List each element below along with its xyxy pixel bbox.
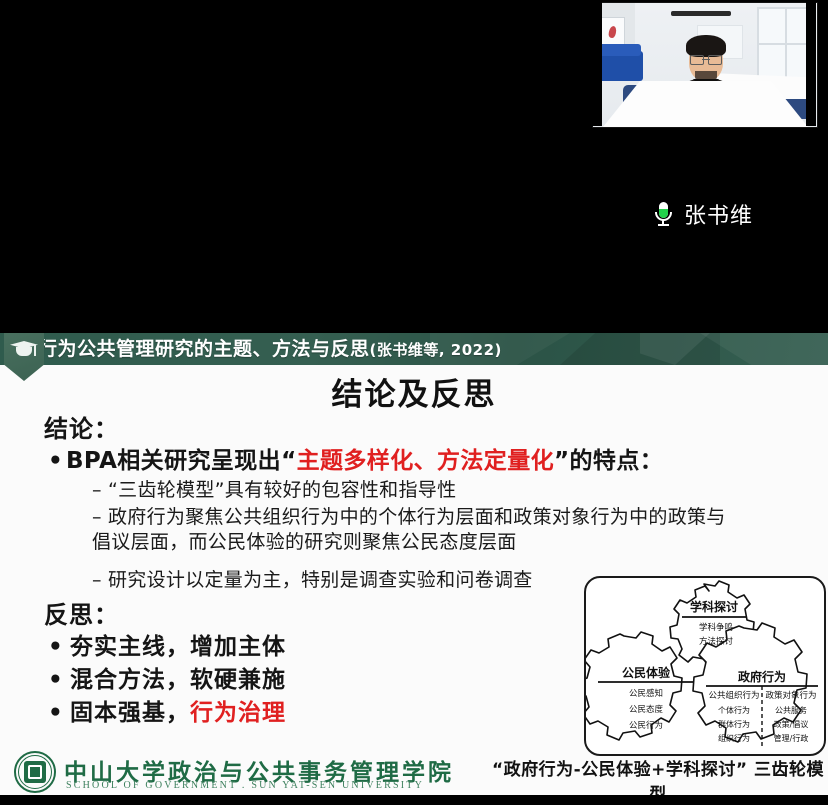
- bullet-dot: •: [48, 667, 70, 693]
- gear-line-left-3: 公民行为: [629, 720, 663, 731]
- gear-line-top-1: 学科争鸣: [699, 622, 733, 633]
- ceiling-light: [671, 11, 731, 16]
- bullet-dot: •: [48, 700, 70, 726]
- presentation-slide: 行为公共管理研究的主题、方法与反思(张书维等, 2022) 结论及反思 结论： …: [0, 333, 828, 795]
- blue-sofa: [595, 51, 643, 81]
- conclusion-sub-bullet: –“三齿轮模型”具有较好的包容性和指导性: [92, 475, 456, 502]
- gear-line-left-2: 公民态度: [629, 704, 664, 715]
- gear-title-left: 公民体验: [622, 665, 671, 680]
- video-conference-region: 张书维: [0, 0, 828, 333]
- slide-header-bar: 行为公共管理研究的主题、方法与反思(张书维等, 2022): [0, 333, 828, 365]
- sysu-seal-logo-icon: [14, 751, 56, 793]
- active-speaker-label: 张书维: [592, 197, 816, 231]
- bullet-dot: •: [48, 634, 70, 660]
- reflection-highlight: 行为治理: [190, 700, 286, 726]
- three-gear-model-diagram: 学科探讨 学科争鸣 方法探讨 公民体验 公民感知 公民态度 公民行为 政府行为 …: [584, 576, 826, 756]
- conclusion-main-bullet: •BPA相关研究呈现出“主题多样化、方法定量化”的特点：: [48, 441, 788, 475]
- window-icon: [757, 7, 813, 85]
- slide-header-title-text: 行为公共管理研究的主题、方法与反思: [38, 338, 370, 360]
- sub-bullet-text: 政府行为聚焦公共组织行为中的个体行为层面和政策对象行为中的政策与倡议层面，而公民…: [92, 506, 726, 553]
- gear-col1-header: 公共组织行为: [708, 690, 759, 701]
- gear-title-right: 政府行为: [738, 669, 786, 684]
- bullet-dot: •: [48, 448, 66, 474]
- bullet-prefix: BPA相关研究呈现出“: [66, 448, 297, 474]
- gear-title-top: 学科探讨: [690, 599, 738, 614]
- reflection-text: 固本强基，: [70, 700, 190, 726]
- sub-bullet-text: “三齿轮模型”具有较好的包容性和指导性: [108, 479, 456, 501]
- section-label-conclusion: 结论：: [44, 409, 119, 444]
- gear-col1-line-1: 个体行为: [718, 705, 750, 715]
- slide-header-citation: (张书维等, 2022): [370, 341, 502, 359]
- dash-marker: –: [92, 569, 108, 591]
- conclusion-sub-bullet: –政府行为聚焦公共组织行为中的个体行为层面和政策对象行为中的政策与倡议层面，而公…: [92, 505, 732, 554]
- institution-name-en: SCHOOL OF GOVERNMENT . SUN YAT-SEN UNIVE…: [66, 780, 424, 791]
- gear-line-top-2: 方法探讨: [699, 636, 734, 647]
- gear-col1-line-2: 群体行为: [718, 719, 750, 729]
- bullet-suffix: ”的特点：: [554, 448, 663, 474]
- video-letterbox-left: [592, 2, 602, 126]
- reflection-item: •混合方法，软硬兼施: [48, 660, 286, 694]
- slide-header-title: 行为公共管理研究的主题、方法与反思(张书维等, 2022): [38, 333, 502, 365]
- gear-line-left-1: 公民感知: [629, 688, 663, 699]
- sub-bullet-text: 研究设计以定量为主，特别是调查实验和问卷调查: [108, 569, 533, 591]
- gear-col1-line-3: 组织行为: [718, 733, 750, 743]
- wall-picture: [601, 17, 625, 47]
- slide-footer: 中山大学政治与公共事务管理学院 SCHOOL OF GOVERNMENT . S…: [0, 747, 828, 795]
- dash-marker: –: [92, 505, 108, 530]
- gear-col2-line-1: 公共服务: [775, 705, 807, 715]
- reflection-text: 混合方法，软硬兼施: [70, 667, 286, 693]
- bullet-highlight: 主题多样化、方法定量化: [297, 448, 554, 474]
- reflection-item: •固本强基，行为治理: [48, 693, 286, 727]
- dash-marker: –: [92, 479, 108, 501]
- reflection-item: •夯实主线，增加主体: [48, 627, 286, 661]
- speaker-video-tile[interactable]: [592, 2, 818, 128]
- reflection-text: 夯实主线，增加主体: [70, 634, 286, 660]
- graduation-cap-icon: [10, 341, 38, 359]
- gear-col2-line-2: 政策/倡议: [774, 719, 809, 729]
- video-background: [593, 3, 817, 127]
- gear-col2-line-3: 管理/行政: [774, 733, 809, 743]
- gear-col2-header: 政策对象行为: [765, 690, 816, 701]
- speaker-name: 张书维: [684, 198, 753, 230]
- microphone-icon[interactable]: [655, 202, 672, 227]
- bottom-letterbox: [0, 795, 828, 802]
- section-label-reflection: 反思：: [44, 595, 119, 630]
- conclusion-sub-bullet: –研究设计以定量为主，特别是调查实验和问卷调查: [92, 565, 533, 592]
- page-title: 结论及反思: [0, 369, 828, 414]
- video-letterbox-right: [806, 2, 816, 126]
